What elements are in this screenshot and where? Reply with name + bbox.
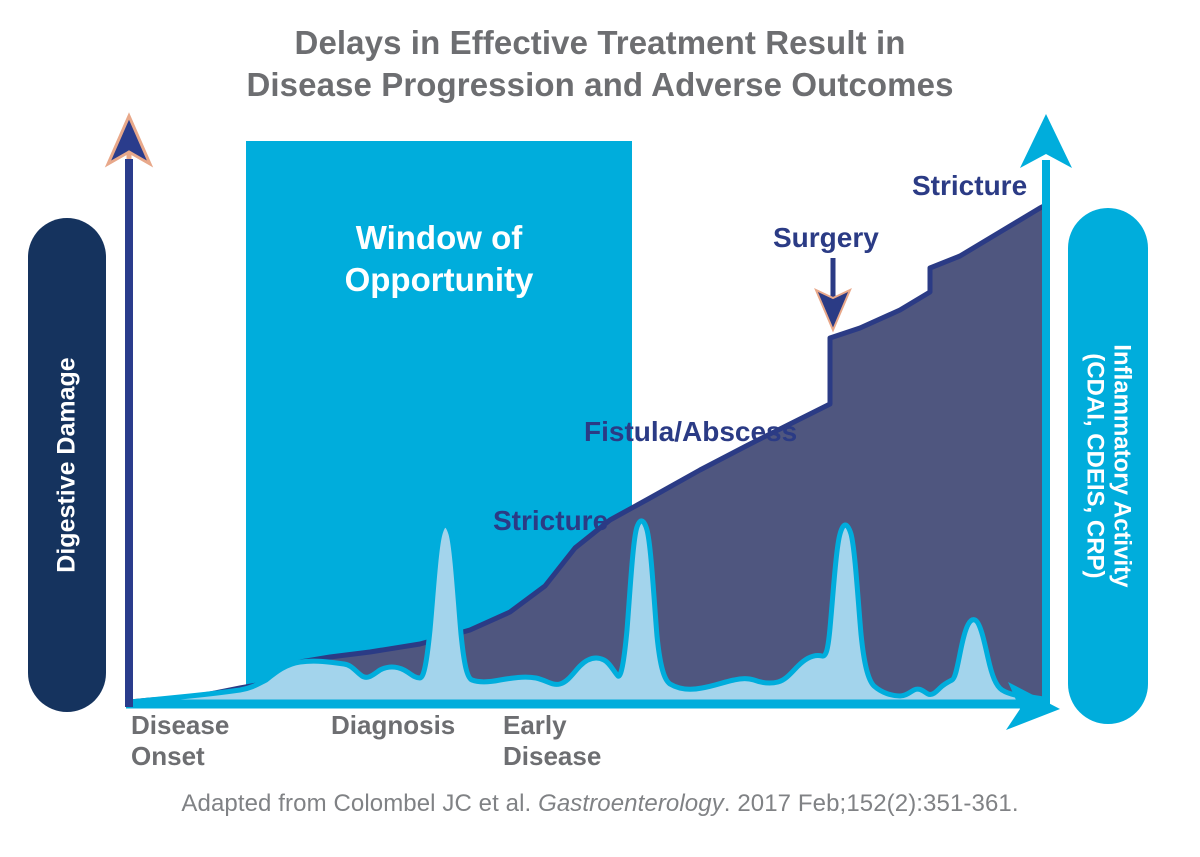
surgery-pointer-arrow-icon	[816, 258, 850, 330]
y-axis-left-label-text: Digestive Damage	[53, 357, 81, 572]
annotation-surgery: Surgery	[773, 222, 879, 254]
x-axis-label-diagnosis: Diagnosis	[331, 710, 455, 741]
chart-canvas: Delays in Effective Treatment Result in …	[0, 0, 1200, 857]
source-citation: Adapted from Colombel JC et al. Gastroen…	[0, 790, 1200, 818]
x-axis-label-disease-onset: Disease Onset	[131, 710, 229, 772]
citation-journal: Gastroenterology	[538, 790, 724, 817]
annotation-stricture-2: Stricture	[912, 170, 1027, 202]
y-axis-right-label-text: Inflammatory Activity (CDAI, CDEIS, CRP)	[1081, 344, 1135, 587]
y-axis-right-label-line-1: Inflammatory Activity	[1109, 344, 1136, 587]
y-axis-right-label-line-2: (CDAI, CDEIS, CRP)	[1082, 353, 1109, 578]
y-axis-right-label-pill: Inflammatory Activity (CDAI, CDEIS, CRP)	[1068, 208, 1148, 724]
annotation-stricture-1: Stricture	[493, 505, 608, 537]
citation-suffix: . 2017 Feb;152(2):351-361.	[724, 790, 1019, 817]
annotation-fistula-abscess: Fistula/Abscess	[584, 416, 797, 448]
citation-prefix: Adapted from Colombel JC et al.	[181, 790, 538, 817]
y-axis-left-arrow-icon	[108, 116, 150, 706]
y-axis-left-label-pill: Digestive Damage	[28, 218, 106, 712]
x-axis-label-early-disease: Early Disease	[503, 710, 601, 772]
digestive-damage-area	[130, 205, 1046, 702]
